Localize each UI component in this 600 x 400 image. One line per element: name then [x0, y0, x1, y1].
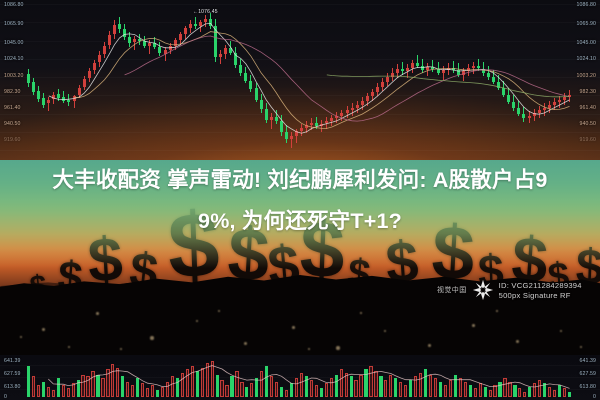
ma-line-ma60 [327, 75, 570, 97]
price-chart-panel: 1086.80 1065.90 1045.00 1024.10 1003.20 … [0, 0, 600, 160]
price-axis-right-4: 1003.20 [577, 73, 596, 79]
bokeh-dot [218, 310, 220, 312]
price-axis-right-1: 1065.90 [577, 21, 596, 27]
headline-line-2: 9%, 为何还死守T+1? [0, 201, 600, 242]
bokeh-dot [42, 328, 45, 331]
price-axis-left-6: 961.40 [4, 105, 20, 111]
price-axis-left-2: 1045.00 [4, 40, 23, 46]
vcg-starburst-icon [472, 279, 494, 301]
headline-line-1: 大丰收配资 掌声雷动! 刘纪鹏犀利发问: A股散户占9 [0, 160, 600, 201]
volume-axis-left-0: 641.39 [4, 358, 20, 364]
price-axis-right-2: 1045.00 [577, 40, 596, 46]
price-axis-right-0: 1086.80 [577, 2, 596, 8]
article-thumbnail: 1086.80 1065.90 1045.00 1024.10 1003.20 … [0, 0, 600, 400]
bokeh-dot [472, 324, 475, 327]
bokeh-dot [516, 340, 519, 343]
bokeh-dot [360, 312, 362, 314]
volume-average-line [0, 355, 600, 400]
bokeh-dot [496, 310, 498, 312]
price-axis-right-7: 940.50 [580, 121, 596, 127]
bokeh-dot [292, 326, 295, 329]
price-axis-left-7: 940.50 [4, 121, 20, 127]
watermark-license: 500px Signature RF [499, 291, 582, 300]
bokeh-dot [196, 320, 198, 322]
bokeh-dot [428, 344, 431, 347]
volume-ma-line [48, 366, 569, 389]
peak-annotation: ←1076.45 [193, 9, 218, 15]
moving-average-lines [0, 0, 600, 160]
volume-axis-right-2: 613.80 [580, 384, 596, 390]
price-axis-right-6: 961.40 [580, 105, 596, 111]
price-axis-left-1: 1065.90 [4, 21, 23, 27]
price-axis-left-0: 1086.80 [4, 2, 23, 8]
bokeh-dot [244, 342, 247, 345]
price-axis-left-8: 919.60 [4, 137, 20, 143]
bokeh-dot [336, 346, 340, 350]
price-axis-left-4: 1003.20 [4, 73, 23, 79]
volume-axis-left-3: 0 [4, 394, 7, 400]
volume-axis-right-0: 641.39 [580, 358, 596, 364]
article-headline: 大丰收配资 掌声雷动! 刘纪鹏犀利发问: A股散户占9 9%, 为何还死守T+1… [0, 160, 600, 242]
bokeh-dot [20, 336, 22, 338]
watermark: 视觉中国 ID: VCG211284289394 500px Signature… [437, 279, 582, 301]
bokeh-dot [68, 346, 70, 348]
price-axis-left-5: 982.30 [4, 89, 20, 95]
price-axis-right-3: 1024.10 [577, 56, 596, 62]
ma-line-ma10 [74, 32, 570, 129]
bokeh-dot [150, 336, 154, 340]
price-axis-right-8: 919.60 [580, 137, 596, 143]
bokeh-dot [560, 330, 562, 332]
watermark-brand-cn: 视觉中国 [437, 287, 467, 294]
bokeh-dot [384, 330, 386, 332]
price-axis-left-3: 1024.10 [4, 56, 23, 62]
price-axis-right-5: 982.30 [580, 89, 596, 95]
ma-line-ma20 [125, 36, 570, 121]
volume-axis-left-1: 627.59 [4, 371, 20, 377]
watermark-text-block: ID: VCG211284289394 500px Signature RF [499, 281, 582, 300]
ma-line-ma5 [49, 23, 570, 133]
volume-axis-right-1: 627.59 [580, 371, 596, 377]
bokeh-dot [96, 312, 99, 315]
volume-axis-left-2: 613.80 [4, 384, 20, 390]
volume-chart-panel: 641.39 627.59 613.80 0 641.39 627.59 613… [0, 355, 600, 400]
watermark-id: ID: VCG211284289394 [499, 281, 582, 290]
volume-axis-right-3: 0 [593, 394, 596, 400]
